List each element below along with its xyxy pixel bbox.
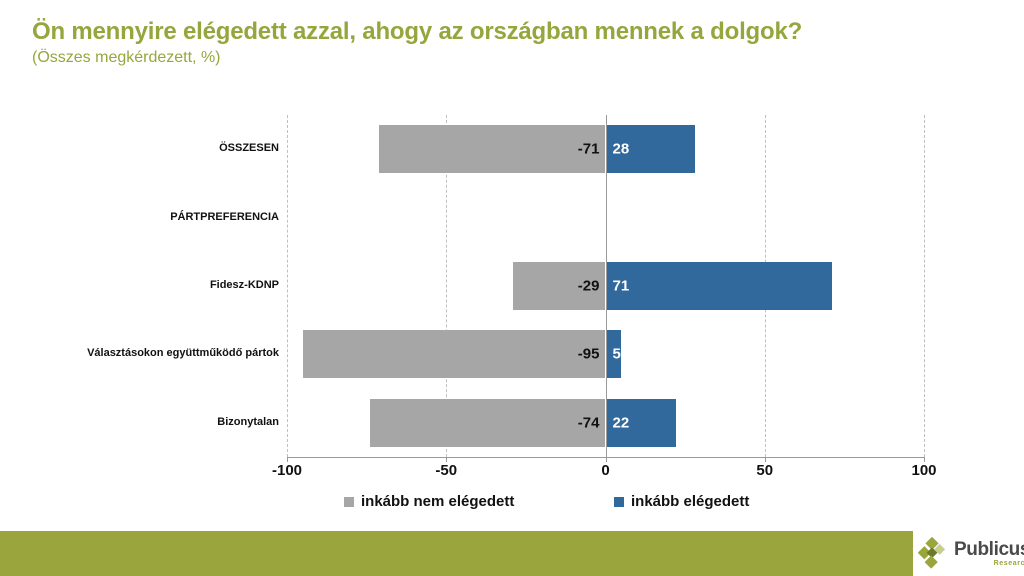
logo-text: Publicus Research: [954, 540, 1024, 567]
bar-value-label: 5: [613, 346, 621, 363]
x-axis-tick-labels: -100-50050100: [0, 462, 1024, 486]
square-swatch-icon: [344, 497, 354, 507]
zero-axis-line: [606, 115, 607, 457]
bar-value-label: 28: [613, 141, 630, 158]
category-label: Fidesz-KDNP: [39, 279, 279, 291]
category-label: PÁRTPREFERENCIA: [39, 211, 279, 223]
legend-item[interactable]: inkább nem elégedett: [344, 493, 514, 510]
chart-legend: inkább nem elégedettinkább elégedett: [0, 493, 1024, 515]
bar-positive: 28: [606, 125, 695, 173]
bar-negative: -29: [513, 262, 605, 310]
publicus-logo: Publicus Research: [913, 531, 1024, 576]
bar-negative: -74: [370, 399, 606, 447]
legend-label: inkább nem elégedett: [361, 493, 514, 510]
bar-positive: 71: [606, 262, 832, 310]
category-label: Választásokon együttműködő pártok: [39, 347, 279, 359]
bar-value-label: 71: [613, 278, 630, 295]
bar-positive: 5: [606, 330, 622, 378]
bar-value-label: -71: [578, 141, 600, 158]
x-tick-label: -50: [435, 462, 457, 479]
square-swatch-icon: [614, 497, 624, 507]
chart-subtitle: (Összes megkérdezett, %): [32, 48, 992, 69]
bar-value-label: -29: [578, 278, 600, 295]
x-tick-label: -100: [272, 462, 302, 479]
bar-negative: -71: [379, 125, 605, 173]
category-label: Bizonytalan: [39, 416, 279, 428]
footer-color-bar: [0, 531, 913, 576]
x-tick-label: 100: [911, 462, 936, 479]
category-label: ÖSSZESEN: [39, 142, 279, 154]
x-tick-label: 0: [601, 462, 609, 479]
chart-header: Ön mennyire elégedett azzal, ahogy az or…: [32, 18, 992, 68]
chart-plot-area: -7128-2971-955-7422: [287, 115, 924, 457]
gridline: [924, 115, 925, 457]
logo-tagline: Research: [954, 560, 1024, 567]
legend-label: inkább elégedett: [631, 493, 749, 510]
legend-item[interactable]: inkább elégedett: [614, 493, 749, 510]
bar-value-label: 22: [613, 414, 630, 431]
bar-value-label: -95: [578, 346, 600, 363]
page-title: Ön mennyire elégedett azzal, ahogy az or…: [32, 18, 992, 46]
bar-positive: 22: [606, 399, 676, 447]
bar-value-label: -74: [578, 414, 600, 431]
bar-negative: -95: [303, 330, 606, 378]
diamond-cluster-icon: [918, 537, 952, 571]
x-tick-label: 50: [756, 462, 773, 479]
logo-wordmark: Publicus: [954, 540, 1024, 559]
